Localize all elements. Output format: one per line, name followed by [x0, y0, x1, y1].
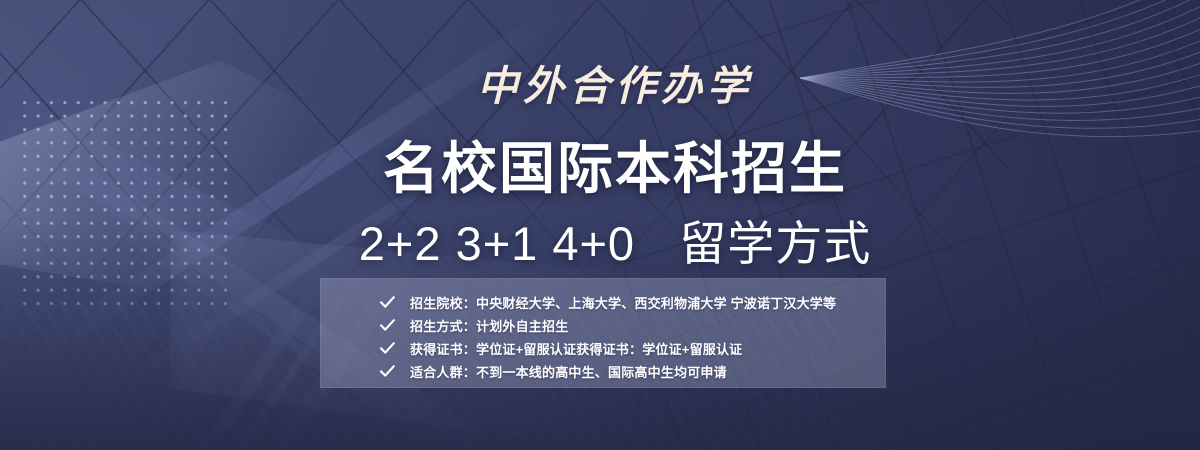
list-item: 获得证书：学位证+留服认证获得证书：学位证+留服认证 — [320, 338, 886, 359]
check-icon — [364, 319, 410, 332]
banner-subhead: 2+2 3+1 4+0 留学方式 — [0, 205, 1200, 274]
list-item: 招生院校：中央财经大学、上海大学、西交利物浦大学 宁波诺丁汉大学等 — [320, 292, 886, 313]
info-panel: 招生院校：中央财经大学、上海大学、西交利物浦大学 宁波诺丁汉大学等 招生方式：计… — [320, 278, 886, 388]
banner-eyebrow: 中外合作办学 — [0, 52, 1200, 112]
subhead-tail: 留学方式 — [679, 217, 871, 270]
subhead-modes: 2+2 3+1 4+0 — [359, 217, 635, 270]
check-icon — [364, 296, 410, 309]
info-item-text: 招生方式：计划外自主招生 — [410, 316, 568, 335]
info-item-text: 获得证书：学位证+留服认证获得证书：学位证+留服认证 — [410, 339, 742, 358]
info-list: 招生院校：中央财经大学、上海大学、西交利物浦大学 宁波诺丁汉大学等 招生方式：计… — [320, 278, 886, 382]
list-item: 适合人群：不到一本线的高中生、国际高中生均可申请 — [320, 361, 886, 382]
list-item: 招生方式：计划外自主招生 — [320, 315, 886, 336]
check-icon — [364, 365, 410, 378]
info-item-text: 适合人群：不到一本线的高中生、国际高中生均可申请 — [410, 362, 727, 381]
banner-content: 中外合作办学 名校国际本科招生 2+2 3+1 4+0 留学方式 招生院校：中央… — [0, 0, 1200, 450]
promo-banner: 中外合作办学 名校国际本科招生 2+2 3+1 4+0 留学方式 招生院校：中央… — [0, 0, 1200, 450]
info-item-text: 招生院校：中央财经大学、上海大学、西交利物浦大学 宁波诺丁汉大学等 — [410, 293, 836, 312]
banner-headline: 名校国际本科招生 — [0, 124, 1200, 205]
check-icon — [364, 342, 410, 355]
